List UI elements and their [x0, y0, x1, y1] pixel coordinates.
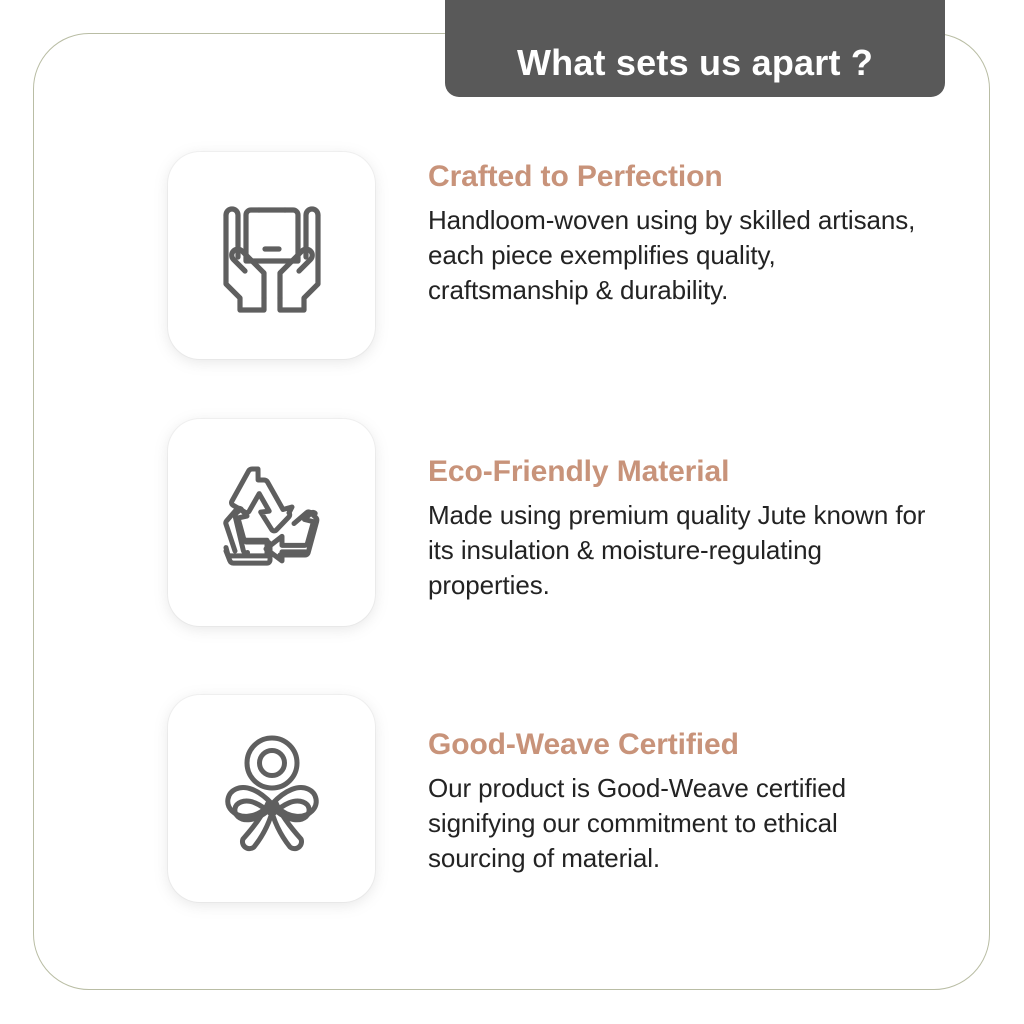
- feature-title: Eco-Friendly Material: [428, 455, 928, 490]
- feature-item-eco-friendly-material: Eco-Friendly Material Made using premium…: [168, 419, 928, 626]
- feature-text-crafted-to-perfection: Crafted to Perfection Handloom-woven usi…: [428, 152, 928, 308]
- feature-item-crafted-to-perfection: Crafted to Perfection Handloom-woven usi…: [168, 152, 928, 359]
- feature-item-good-weave-certified: Good-Weave Certified Our product is Good…: [168, 695, 928, 902]
- feature-description: Handloom-woven using by skilled artisans…: [428, 203, 928, 308]
- feature-description: Our product is Good-Weave certified sign…: [428, 771, 928, 876]
- feature-title: Good-Weave Certified: [428, 728, 928, 763]
- icon-tile-eco-friendly-material: [168, 419, 375, 626]
- hands-holding-box-icon: [207, 191, 337, 321]
- feature-description: Made using premium quality Jute known fo…: [428, 498, 928, 603]
- icon-tile-good-weave-certified: [168, 695, 375, 902]
- icon-tile-crafted-to-perfection: [168, 152, 375, 359]
- feature-title: Crafted to Perfection: [428, 160, 928, 195]
- feature-text-good-weave-certified: Good-Weave Certified Our product is Good…: [428, 695, 928, 876]
- goodweave-logo-icon: [208, 733, 336, 865]
- feature-list: Crafted to Perfection Handloom-woven usi…: [0, 0, 1024, 1024]
- recycle-icon: [208, 461, 336, 585]
- feature-text-eco-friendly-material: Eco-Friendly Material Made using premium…: [428, 419, 928, 603]
